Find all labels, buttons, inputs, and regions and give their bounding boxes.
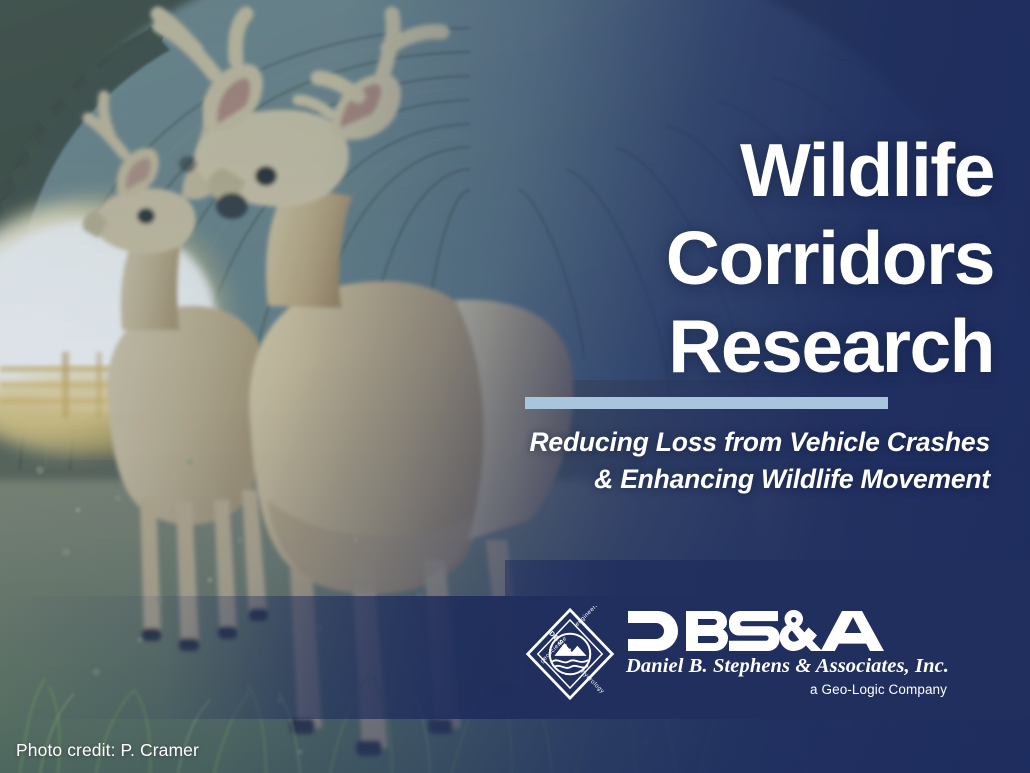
- page-title: Wildlife Corridors Research: [524, 126, 994, 390]
- company-name: Daniel B. Stephens & Associates, Inc.: [626, 655, 949, 678]
- dbsa-wordmark: [626, 608, 926, 654]
- photo-credit: Photo credit: P. Cramer: [16, 740, 199, 761]
- svg-text:engineering: engineering: [575, 606, 605, 628]
- dbsa-logo-text: Daniel B. Stephens & Associates, Inc. a …: [626, 604, 949, 697]
- subtitle-line-2: & Enhancing Wildlife Movement: [500, 461, 990, 498]
- dbsa-logo: DBS&A engineering geoscience hydrology: [524, 604, 924, 708]
- parent-company-line: a Geo-Logic Company: [626, 682, 949, 697]
- dbsa-diamond-emblem-icon: DBS&A engineering geoscience hydrology: [524, 606, 616, 702]
- subtitle-line-1: Reducing Loss from Vehicle Crashes: [500, 424, 990, 461]
- title-line-1: Wildlife: [524, 126, 994, 214]
- page-subtitle: Reducing Loss from Vehicle Crashes & Enh…: [500, 424, 990, 498]
- title-divider-rule: [525, 397, 888, 409]
- title-line-2: Corridors: [524, 214, 994, 302]
- wildlife-corridors-cover: Wildlife Corridors Research Reducing Los…: [0, 0, 1030, 773]
- title-line-3: Research: [524, 302, 994, 390]
